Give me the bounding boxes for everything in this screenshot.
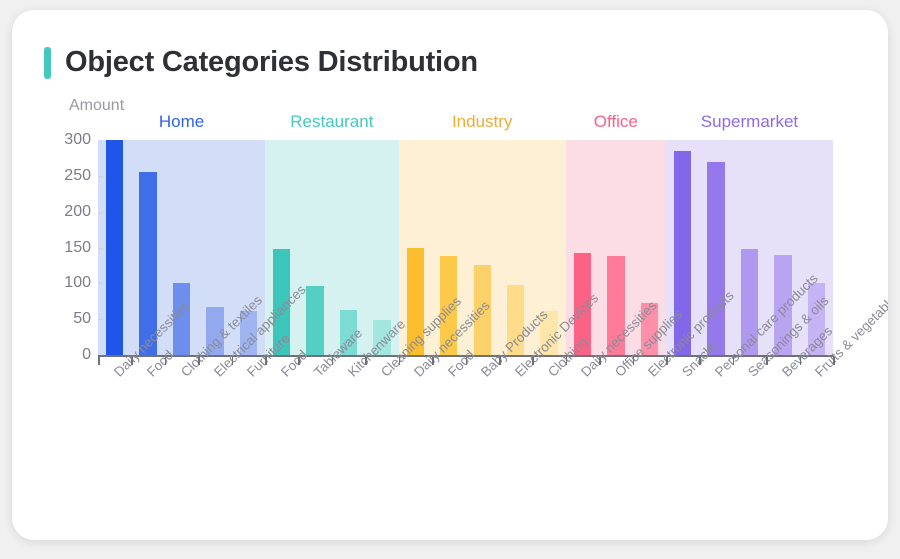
bar[interactable] [474, 265, 491, 355]
x-tick [399, 357, 401, 365]
x-tick [432, 357, 434, 365]
x-tick [165, 357, 167, 365]
bar[interactable] [273, 249, 290, 355]
x-tick [98, 357, 100, 365]
x-tick [599, 357, 601, 365]
x-tick [131, 357, 133, 365]
group-label-restaurant: Restaurant [290, 112, 373, 132]
bar[interactable] [139, 172, 156, 355]
y-tick-label: 300 [64, 131, 91, 149]
bar[interactable] [808, 283, 825, 355]
x-tick [800, 357, 802, 365]
group-label-home: Home [159, 112, 204, 132]
y-tick-label: 50 [73, 310, 91, 328]
bar[interactable] [707, 162, 724, 356]
page-title: Object Categories Distribution [65, 46, 478, 79]
x-tick [466, 357, 468, 365]
bar[interactable] [774, 255, 791, 355]
x-tick [666, 357, 668, 365]
bar[interactable] [240, 311, 257, 355]
x-tick [198, 357, 200, 365]
y-grid-stub [98, 248, 103, 249]
y-tick-label: 0 [82, 346, 91, 364]
x-tick [699, 357, 701, 365]
x-tick [766, 357, 768, 365]
bar[interactable] [607, 256, 624, 355]
title-row: Object Categories Distribution [44, 46, 478, 79]
bar[interactable] [206, 307, 223, 355]
bar[interactable] [306, 286, 323, 355]
bar[interactable] [440, 256, 457, 355]
x-tick [298, 357, 300, 365]
group-label-industry: Industry [452, 112, 512, 132]
x-tick [232, 357, 234, 365]
chart-card: Object Categories Distribution Amount 05… [12, 10, 888, 540]
bar[interactable] [173, 283, 190, 355]
y-tick-label: 200 [64, 203, 91, 221]
y-grid-stub [98, 212, 103, 213]
bar[interactable] [106, 140, 123, 355]
bar[interactable] [340, 310, 357, 355]
y-grid-stub [98, 319, 103, 320]
y-grid-stub [98, 283, 103, 284]
x-tick [833, 357, 835, 365]
y-grid-stub [98, 176, 103, 177]
bar[interactable] [540, 311, 557, 355]
x-tick [499, 357, 501, 365]
bar[interactable] [407, 248, 424, 356]
bar[interactable] [641, 303, 658, 355]
y-tick-label: 150 [64, 239, 91, 257]
group-label-office: Office [594, 112, 638, 132]
x-tick [532, 357, 534, 365]
x-tick [332, 357, 334, 365]
group-label-supermarket: Supermarket [701, 112, 798, 132]
bar[interactable] [574, 253, 591, 355]
bar[interactable] [373, 320, 390, 355]
x-tick [365, 357, 367, 365]
y-axis-tick-labels: 050100150200250300 [36, 10, 91, 540]
x-tick [265, 357, 267, 365]
x-tick [566, 357, 568, 365]
x-tick [733, 357, 735, 365]
y-tick-label: 100 [64, 274, 91, 292]
x-tick [633, 357, 635, 365]
bar[interactable] [674, 151, 691, 355]
y-tick-label: 250 [64, 167, 91, 185]
bar[interactable] [741, 249, 758, 355]
plot-area: HomeRestaurantIndustryOfficeSupermarket [98, 140, 833, 355]
bar[interactable] [507, 285, 524, 355]
